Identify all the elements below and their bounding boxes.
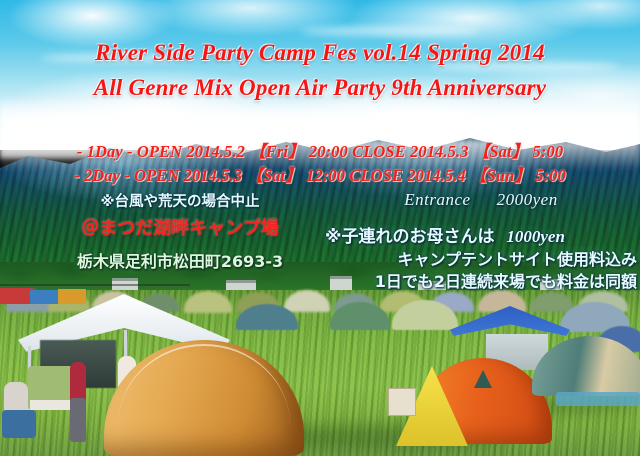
ground-tarp (556, 392, 640, 406)
event-flyer-poster: River Side Party Camp Fes vol.14 Spring … (0, 0, 640, 456)
fee-mother-row: ※子連れのお母さんは 1000yen (325, 222, 637, 247)
festival-stall (30, 290, 60, 304)
schedule-line-day1: - 1Day - OPEN 2014.5.2 【Fri】 20:00 CLOSE… (0, 138, 640, 162)
entrance-label: Entrance (404, 190, 470, 209)
person-figure (70, 398, 86, 442)
fee-mother-price: 1000yen (506, 227, 565, 246)
festival-stall (58, 289, 86, 304)
entrance-price: 2000yen (497, 190, 558, 209)
fee-includes-note: キャンプテントサイト使用料込み (325, 246, 640, 270)
camp-chair (2, 410, 36, 438)
cancellation-note: ※台風や荒天の場合中止 (40, 190, 320, 211)
venue-address: 栃木県足利市松田町2693-3 (40, 248, 320, 272)
venue-name: ＠まつだ湖畔キャンプ場 (40, 214, 320, 240)
cloud-wisp (300, 26, 480, 36)
entrance-price-row: Entrance2000yen (325, 190, 637, 210)
page-title: River Side Party Camp Fes vol.14 Spring … (0, 40, 640, 66)
festival-flag-line (0, 284, 190, 286)
fee-mother-label: ※子連れのお母さんは (325, 227, 495, 247)
camp-table (30, 400, 70, 410)
cooler-box (388, 388, 416, 416)
fee-same-amount-note: 1日でも2日連続来場でも料金は同額 (325, 268, 640, 292)
schedule-line-day2: - 2Day - OPEN 2014.5.3 【Sat】 12:00 CLOSE… (0, 162, 640, 186)
page-subtitle: All Genre Mix Open Air Party 9th Anniver… (0, 75, 640, 101)
festival-stall (0, 288, 34, 304)
